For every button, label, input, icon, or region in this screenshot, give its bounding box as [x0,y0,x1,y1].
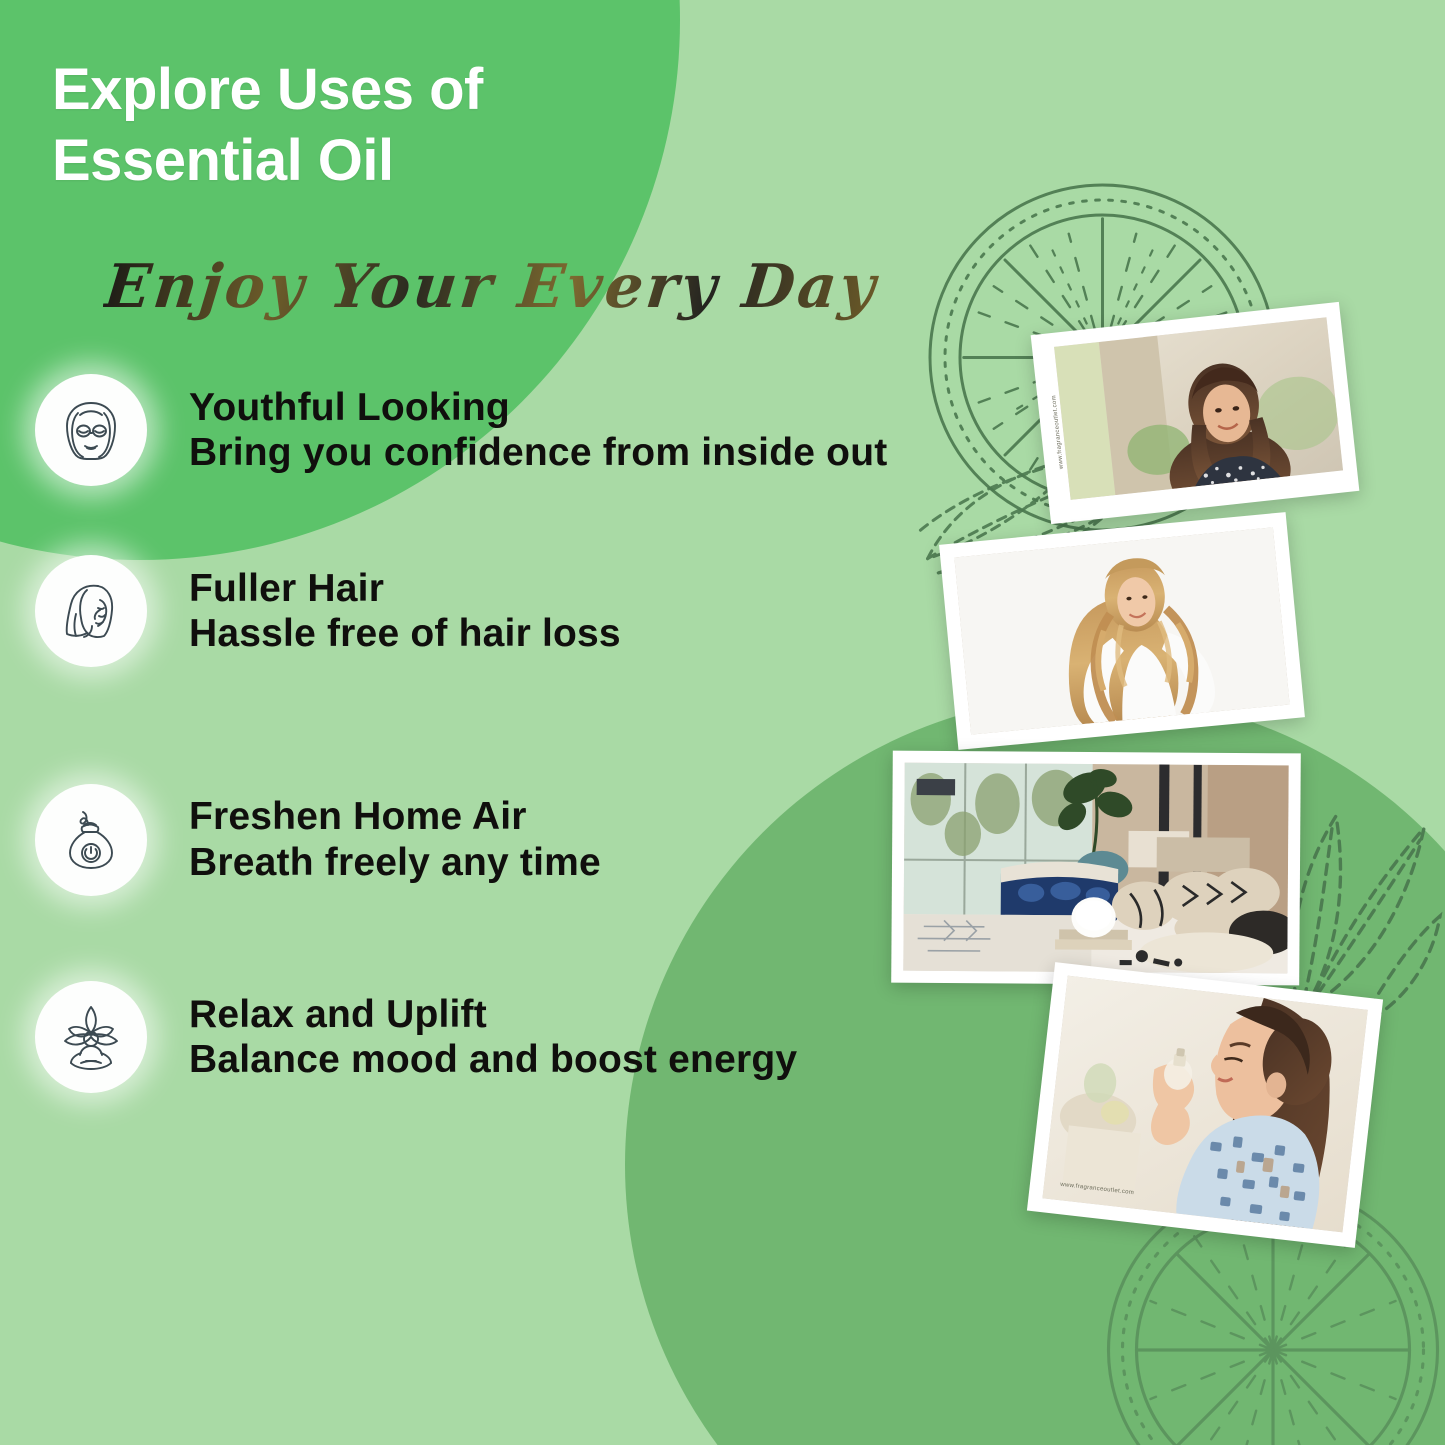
feature-subtitle: Hassle free of hair loss [189,611,621,656]
photo-woman-applying-perfume [1027,962,1383,1248]
feature-text-youthful-looking: Youthful Looking Bring you confidence fr… [189,385,887,475]
photo-smiling-woman-image [1054,317,1343,500]
feature-title: Relax and Uplift [189,992,797,1037]
photo-blonde-wavy-hair-image [954,527,1289,734]
feature-text-freshen-home-air: Freshen Home Air Breath freely any time [189,794,601,884]
lotus-meditation-icon [35,981,147,1093]
feature-item-fuller-hair: Fuller Hair Hassle free of hair loss [0,505,1040,717]
feature-item-relax-and-uplift: Relax and Uplift Balance mood and boost … [0,962,1040,1112]
photo-perfume-image [1042,976,1367,1233]
feature-text-fuller-hair: Fuller Hair Hassle free of hair loss [189,566,621,656]
feature-subtitle: Balance mood and boost energy [189,1037,797,1082]
photo-blonde-wavy-hair [939,512,1305,750]
feature-title: Fuller Hair [189,566,621,611]
long-hair-woman-icon [35,555,147,667]
photo-smiling-woman [1031,302,1360,524]
page-title: Explore Uses of Essential Oil [52,55,483,197]
feature-subtitle: Bring you confidence from inside out [189,430,887,475]
feature-title: Freshen Home Air [189,794,601,839]
photo-living-room-image [903,763,1288,974]
script-heading: Enjoy Your Every Day [101,252,881,322]
feature-item-freshen-home-air: Freshen Home Air Breath freely any time [0,717,1040,962]
infographic-canvas: www.fragranceoutlet.com [0,0,1445,1445]
feature-item-youthful-looking: Youthful Looking Bring you confidence fr… [0,355,1040,505]
face-mask-icon [35,374,147,486]
feature-title: Youthful Looking [189,385,887,430]
feature-list: Youthful Looking Bring you confidence fr… [0,355,1040,1112]
aroma-diffuser-icon [35,784,147,896]
feature-subtitle: Breath freely any time [189,840,601,885]
feature-text-relax-and-uplift: Relax and Uplift Balance mood and boost … [189,992,797,1082]
photo-living-room-diffuser [891,751,1301,986]
